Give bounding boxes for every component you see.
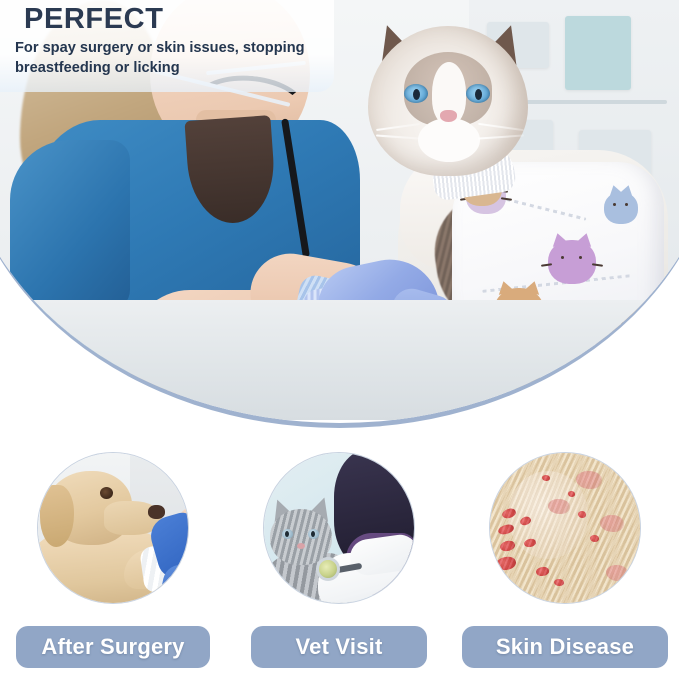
use-case-card-vet-visit[interactable]: Vet Visit [226,440,452,679]
card-label-vet-visit[interactable]: Vet Visit [251,626,427,668]
after-surgery-thumbnail [37,452,189,604]
cat-eye [404,84,428,103]
fur-texture-overlay [490,453,640,603]
suit-cat-print [548,240,596,284]
card-label-after-surgery[interactable]: After Surgery [16,626,210,668]
headline-panel: PERFECT For spay surgery or skin issues,… [0,0,334,92]
cat-eye [466,84,490,103]
suit-cat-print [604,192,638,224]
dog-eye [100,487,113,499]
cat-nose [440,110,457,122]
use-case-card-skin-disease[interactable]: Skin Disease [452,440,678,679]
card-label-text: Vet Visit [296,634,383,660]
shelf-item [565,16,631,90]
page-title: PERFECT [24,4,320,34]
kitten-eye [282,529,293,539]
stethoscope-chestpiece [316,557,340,581]
vet-shoulder [10,140,130,310]
card-label-text: Skin Disease [496,634,634,660]
page-subtitle: For spay surgery or skin issues, stoppin… [15,39,320,78]
kitten-eye [308,529,319,539]
use-case-card-after-surgery[interactable]: After Surgery [0,440,226,679]
vet-visit-thumbnail [263,452,415,604]
skin-disease-thumbnail [489,452,641,604]
card-label-text: After Surgery [41,634,184,660]
kitten-nose [297,543,305,549]
exam-table [0,300,679,420]
card-label-skin-disease[interactable]: Skin Disease [462,626,668,668]
kitten-head [270,509,332,565]
use-case-cards: After Surgery [0,440,679,679]
product-feature-page: PERFECT For spay surgery or skin issues,… [0,0,679,679]
cat-muzzle [418,118,480,162]
